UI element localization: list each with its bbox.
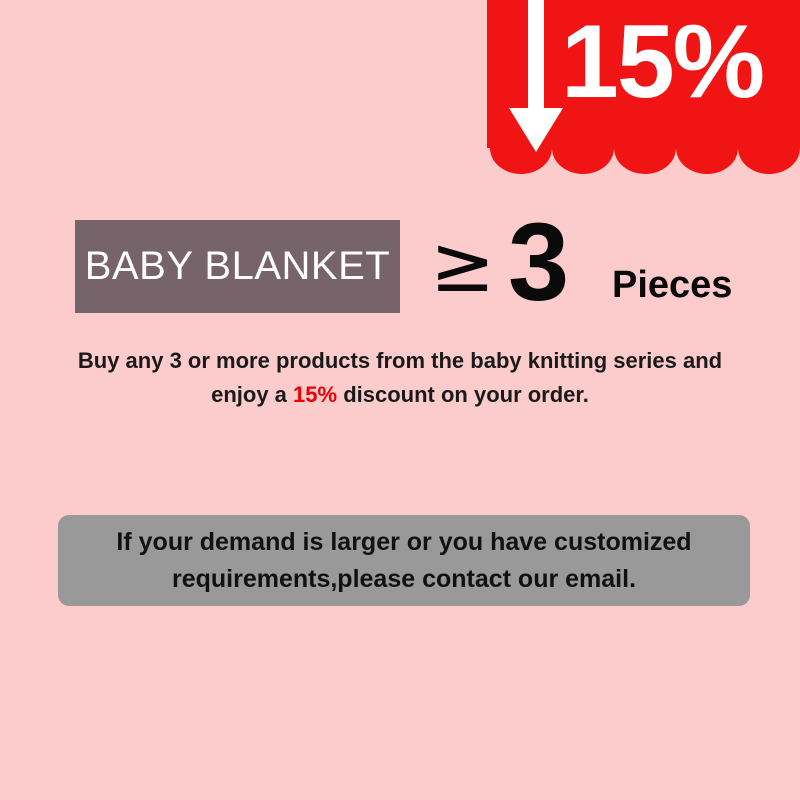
promo-description-discount-highlight: 15% bbox=[293, 382, 337, 407]
category-label-text: BABY BLANKET bbox=[85, 244, 390, 289]
contact-notice-line-1: If your demand is larger or you have cus… bbox=[74, 524, 734, 560]
contact-notice-box: If your demand is larger or you have cus… bbox=[58, 515, 750, 606]
promo-description-line-2-prefix: enjoy a bbox=[211, 382, 293, 407]
promo-description: Buy any 3 or more products from the baby… bbox=[50, 344, 750, 412]
promo-description-line-1-text: Buy any 3 or more products from the baby… bbox=[78, 348, 722, 373]
contact-notice-line-2: requirements,please contact our email. bbox=[74, 561, 734, 597]
quantity-unit-text: Pieces bbox=[612, 266, 732, 304]
contact-notice-text: If your demand is larger or you have cus… bbox=[74, 524, 734, 597]
category-label-box: BABY BLANKET bbox=[75, 220, 400, 313]
promo-description-line-2: enjoy a 15% discount on your order. bbox=[50, 378, 750, 412]
quantity-number-text: 3 bbox=[508, 208, 569, 318]
discount-banner: 15% bbox=[487, 0, 800, 172]
promo-banner: 15% BABY BLANKET ≥ 3 Pieces Buy any 3 or… bbox=[0, 0, 800, 800]
quantity-requirement: ≥ 3 Pieces bbox=[430, 218, 770, 318]
promo-description-line-1: Buy any 3 or more products from the baby… bbox=[50, 344, 750, 378]
discount-percentage-text: 15% bbox=[561, 8, 800, 117]
down-arrow-icon bbox=[505, 0, 567, 156]
promo-description-line-2-suffix: discount on your order. bbox=[337, 382, 589, 407]
greater-than-or-equal-icon: ≥ bbox=[430, 226, 495, 304]
